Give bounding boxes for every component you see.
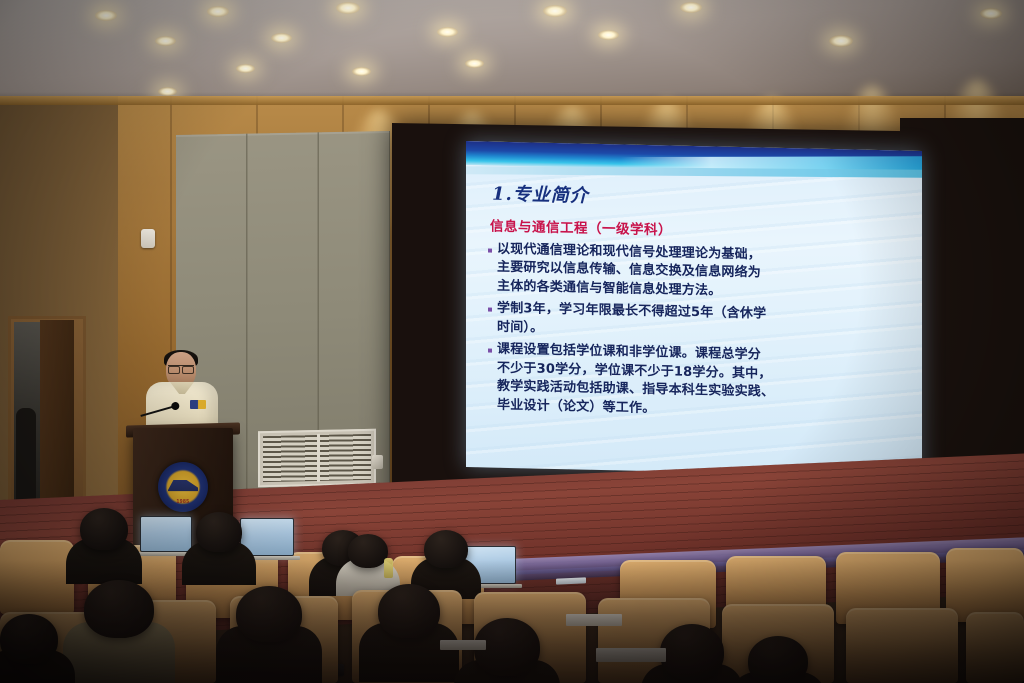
lecture-hall-photo: 1.专业简介 信息与通信工程（一级学科） 以现代通信理论和现代信号处理理论为基础… xyxy=(0,0,1024,683)
slide-bullet-2: 学制3年，学习年限最长不得超过5年（含休学时间）。 xyxy=(486,300,908,346)
slide-body: 1.专业简介 信息与通信工程（一级学科） 以现代通信理论和现代信号处理理论为基础… xyxy=(466,167,922,428)
slide-bullet-list: 以现代通信理论和现代信号处理理论为基础，主要研究以信息传输、信息交换及信息网络为… xyxy=(484,240,908,423)
ceiling-downlight-15 xyxy=(465,59,484,68)
emblem-year: 1985 xyxy=(158,499,208,505)
ceiling-downlight-1 xyxy=(95,10,117,21)
slide-bullet-3: 课程设置包括学位课和非学位课。课程总学分不少于30学分，学位课不少于18学分。其… xyxy=(486,341,908,424)
house-dim-overlay xyxy=(0,560,1024,683)
doorway-silhouette xyxy=(16,408,36,500)
slide-bullet-1: 以现代通信理论和现代信号处理理论为基础，主要研究以信息传输、信息交换及信息网络为… xyxy=(486,240,908,305)
university-emblem: 1985 xyxy=(158,462,208,512)
attendee-back-left-head xyxy=(80,508,128,550)
laptop-back-left[interactable] xyxy=(140,516,192,552)
ceiling-downlight-3 xyxy=(336,2,360,14)
ceiling-downlight-7 xyxy=(980,8,1002,19)
ceiling-downlight-6 xyxy=(829,35,853,47)
emblem-glyph-icon xyxy=(168,478,198,494)
shirt-logo-icon xyxy=(190,400,206,409)
slide-bullet-text: 以现代通信理论和现代信号处理理论为基础，主要研究以信息传输、信息交换及信息网络为… xyxy=(497,241,761,302)
ceiling-downlight-5 xyxy=(680,2,702,13)
ceiling-downlight-11 xyxy=(598,30,619,40)
ceiling-downlight-4 xyxy=(543,5,567,17)
ceiling-downlight-10 xyxy=(437,27,458,37)
ceiling-downlight-9 xyxy=(271,33,292,43)
slide-bullet-text: 学制3年，学习年限最长不得超过5年（含休学时间）。 xyxy=(497,300,766,343)
wall-switch[interactable] xyxy=(372,455,383,469)
ceiling-downlight-12 xyxy=(158,87,177,96)
hvac-vent-grille xyxy=(258,429,376,487)
ceiling-downlight-14 xyxy=(352,67,371,76)
bullet-marker-icon xyxy=(488,308,492,312)
bullet-marker-icon xyxy=(488,249,492,253)
ceiling-downlight-2 xyxy=(207,6,229,17)
ceiling-downlight-13 xyxy=(236,64,255,73)
bullet-marker-icon xyxy=(488,349,492,353)
glasses-icon xyxy=(168,365,194,371)
attendee-back-mid-head xyxy=(196,512,242,552)
slide-title: 1.专业简介 xyxy=(492,180,908,215)
slide-subtitle: 信息与通信工程（一级学科） xyxy=(490,215,908,244)
ceiling-downlight-8 xyxy=(155,36,176,46)
slide-bullet-text: 课程设置包括学位课和非学位课。课程总学分不少于30学分，学位课不少于18学分。其… xyxy=(497,341,774,421)
wall-sensor-icon xyxy=(141,229,155,248)
presentation-slide: 1.专业简介 信息与通信工程（一级学科） 以现代通信理论和现代信号处理理论为基础… xyxy=(466,141,922,477)
wall-trim-band xyxy=(0,96,1024,105)
